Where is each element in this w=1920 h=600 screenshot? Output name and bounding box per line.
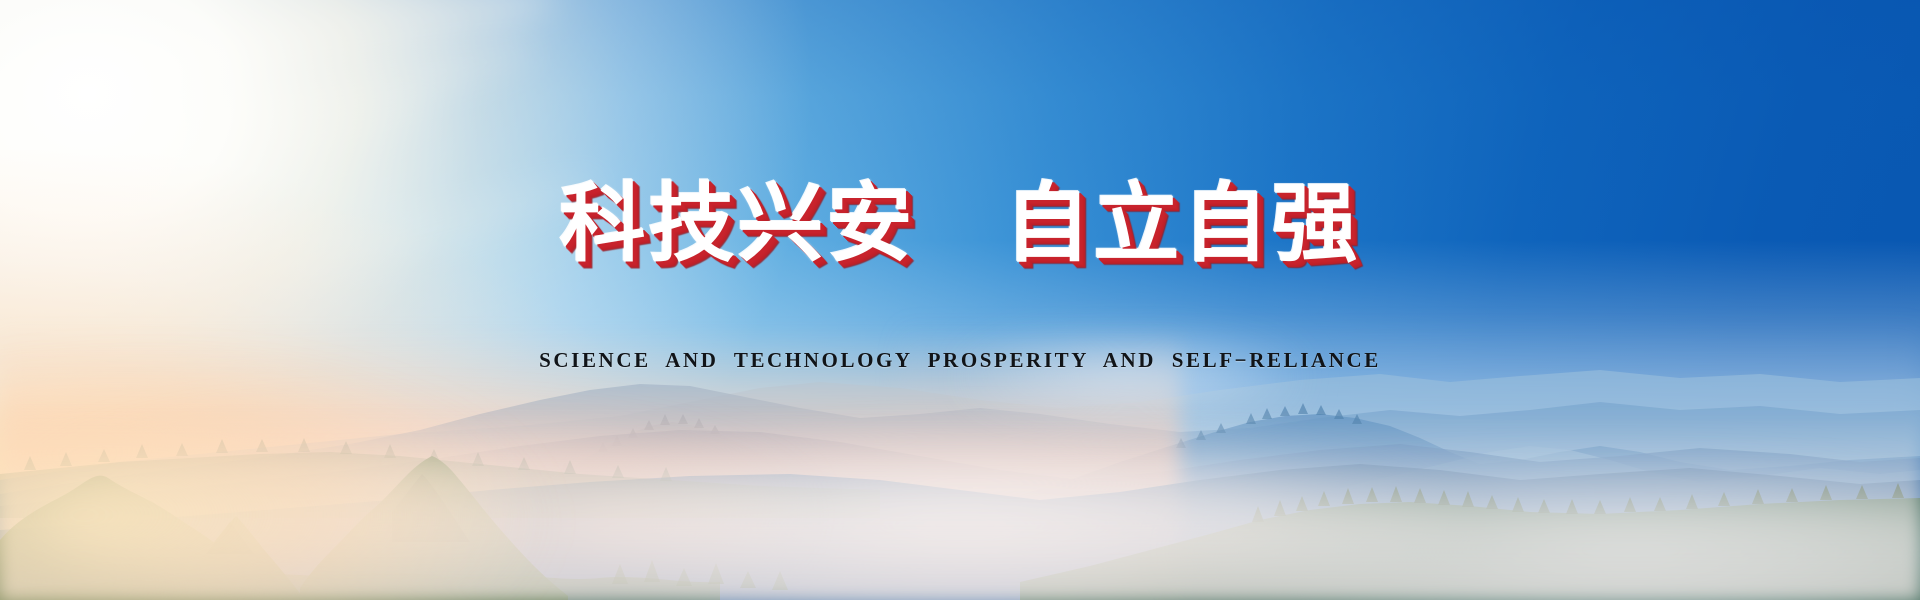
mist-wisp-upper (960, 348, 1300, 406)
hero-banner: 科技兴安 自立自强 SCIENCE AND TECHNOLOGY PROSPER… (0, 0, 1920, 600)
